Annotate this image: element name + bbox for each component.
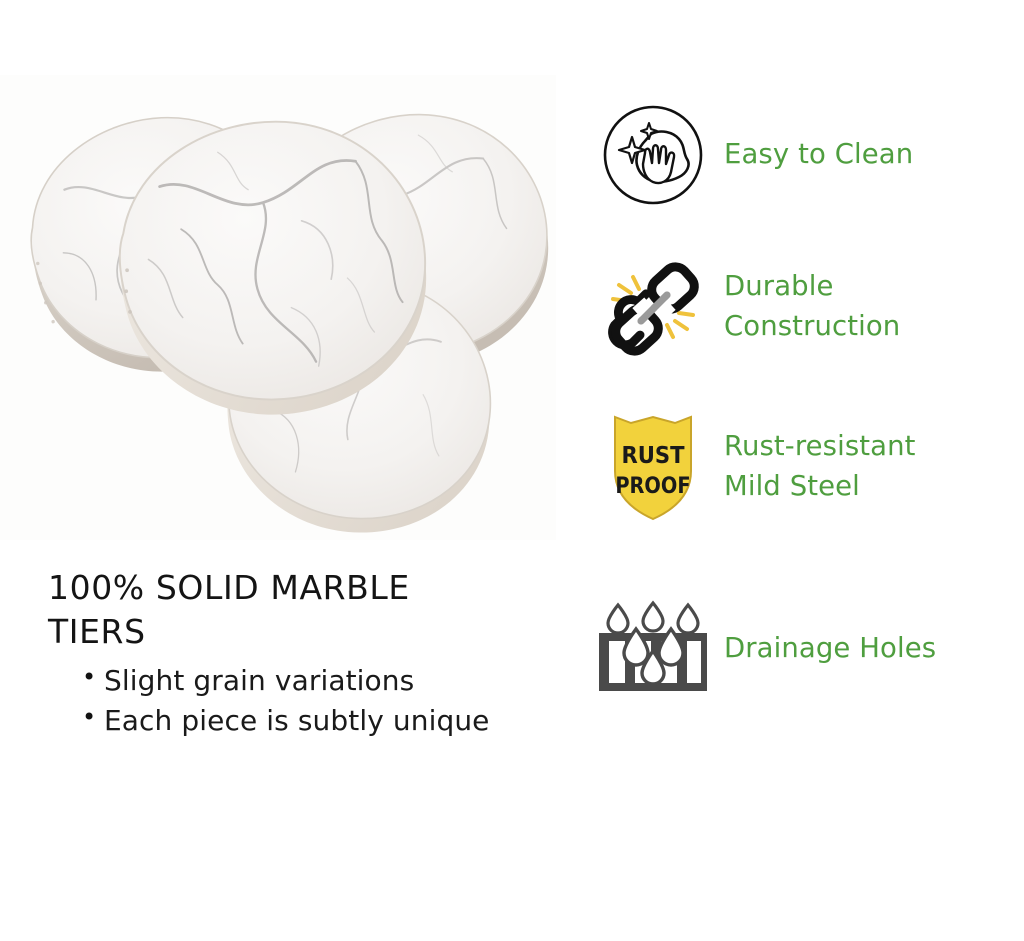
feature-label-easy-to-clean: Easy to Clean (718, 135, 913, 174)
feature-bullet-list: Slight grain variations Each piece is su… (48, 661, 518, 741)
feature-label-drainage-holes: Drainage Holes (718, 629, 936, 668)
infographic-page: 100% SOLID MARBLE TIERS Slight grain var… (0, 0, 1024, 941)
drainage-slots-droplets-icon (588, 586, 718, 711)
feature-label-durable-construction: Durable Construction (718, 267, 900, 345)
copy-heading: 100% SOLID MARBLE TIERS (48, 566, 468, 653)
product-photo-panel (0, 75, 556, 540)
feature-label-line: Durable (724, 267, 900, 306)
shield-text-bottom: PROOF (615, 472, 690, 497)
feature-label-line: Mild Steel (724, 467, 916, 506)
feature-label-line: Construction (724, 307, 900, 346)
shield-text-top: RUST (621, 442, 684, 469)
feature-label-rust-resistant: Rust-resistant Mild Steel (718, 427, 916, 505)
feature-row-rust-resistant: RUST PROOF Rust-resistant Mild Steel (588, 404, 1008, 529)
feature-row-easy-to-clean: Easy to Clean (588, 92, 1008, 217)
rust-proof-shield-icon: RUST PROOF (588, 404, 718, 529)
broken-chain-link-icon (588, 244, 718, 369)
copy-block: 100% SOLID MARBLE TIERS Slight grain var… (48, 566, 518, 741)
list-item: Each piece is subtly unique (82, 701, 518, 741)
feature-row-durable-construction: Durable Construction (588, 244, 1008, 369)
feature-label-line: Drainage Holes (724, 629, 936, 668)
marble-trays-illustration (0, 75, 556, 540)
feature-label-line: Rust-resistant (724, 427, 916, 466)
feature-row-drainage-holes: Drainage Holes (588, 586, 1008, 711)
list-item: Slight grain variations (82, 661, 518, 701)
sparkle-wipe-cloth-icon (588, 92, 718, 217)
feature-label-line: Easy to Clean (724, 135, 913, 174)
